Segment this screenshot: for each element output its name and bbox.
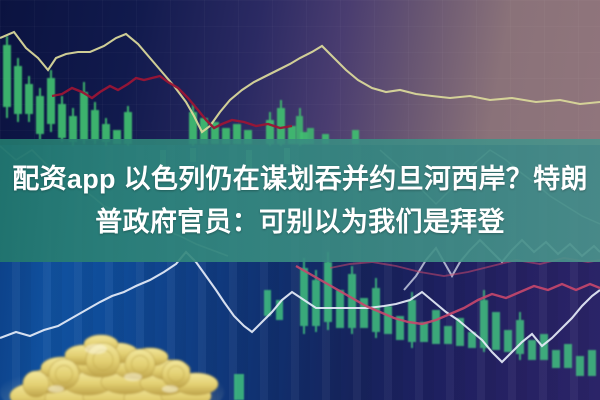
- headline-text: 配资app 以色列仍在谋划吞并约旦河西岸？特朗 普政府官员：可别以为我们是拜登: [0, 139, 600, 262]
- news-banner-image: 配资app 以色列仍在谋划吞并约旦河西岸？特朗 普政府官员：可别以为我们是拜登: [0, 0, 600, 400]
- headline-line-1: 配资app 以色列仍在谋划吞并约旦河西岸？特朗: [12, 158, 587, 201]
- headline-line-2: 普政府官员：可别以为我们是拜登: [95, 201, 505, 244]
